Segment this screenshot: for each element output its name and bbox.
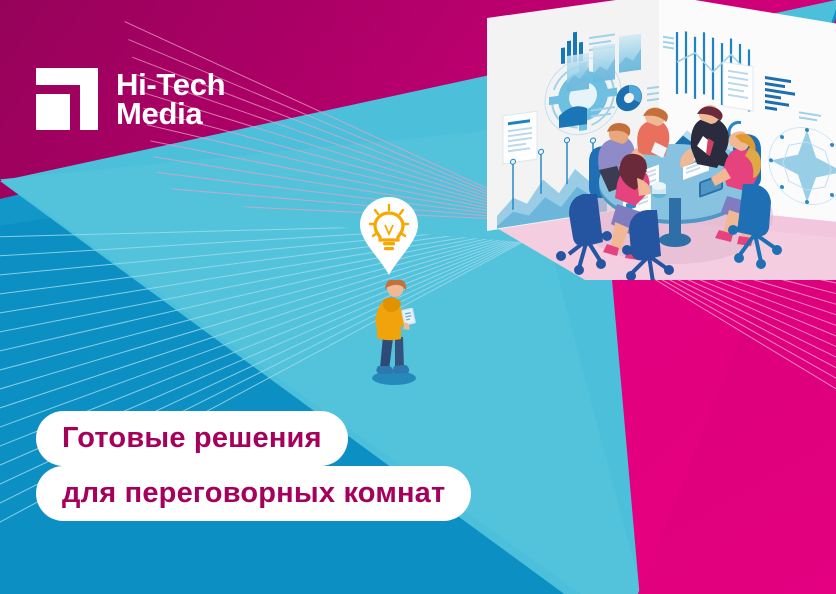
promo-banner: Hi-Tech Media Готовые решения для перего…: [0, 0, 836, 594]
brand-logo[interactable]: Hi-Tech Media: [36, 68, 225, 130]
headline-row-2: для переговорных комнат: [36, 466, 471, 521]
hi-tech-media-logo-mark: [36, 68, 98, 130]
logo-line-2: Media: [116, 99, 225, 128]
isometric-meeting-room: [487, 0, 836, 280]
headline-pill-1[interactable]: Готовые решения: [36, 411, 348, 466]
standing-person-with-tablet: [365, 280, 423, 386]
headline-block: Готовые решения для переговорных комнат: [36, 411, 471, 521]
headline-row-1: Готовые решения: [36, 411, 471, 466]
headline-pill-2[interactable]: для переговорных комнат: [36, 466, 471, 521]
idea-pin: [358, 196, 420, 276]
logo-line-1: Hi-Tech: [116, 70, 225, 99]
logo-wordmark: Hi-Tech Media: [116, 70, 225, 129]
